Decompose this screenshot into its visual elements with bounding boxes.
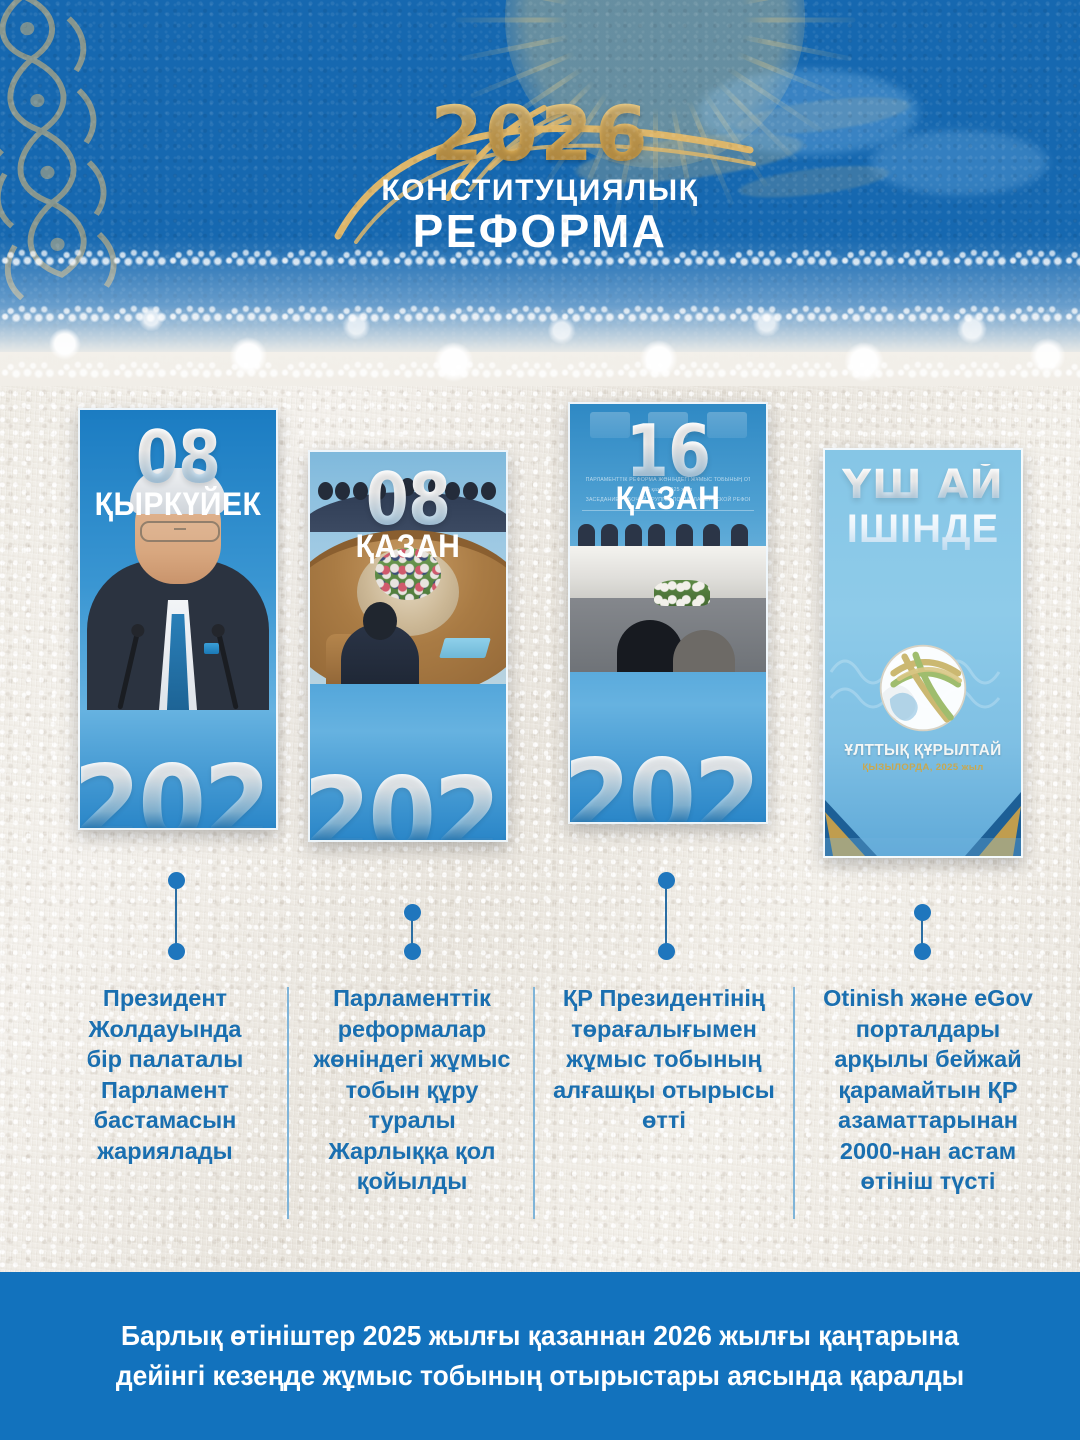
card-day: 08	[324, 466, 493, 532]
connector-dot-bottom	[658, 943, 675, 960]
connector-dot-top	[658, 872, 675, 889]
card-day: 16	[584, 418, 753, 484]
footer-text: Барлық өтініштер 2025 жылғы қазаннан 202…	[79, 1316, 1001, 1395]
caption-text: ҚР Президентінің төрағалығымен жұмыс тоб…	[540, 983, 788, 1136]
card-day: ҮШ АЙ	[825, 464, 1021, 507]
card-month: ҚАЗАН	[316, 528, 500, 565]
caption-text: Президент Жолдауында бір палаталы Парлам…	[52, 983, 278, 1166]
card-year: 2025	[568, 746, 768, 824]
card-year: 2025	[308, 764, 508, 842]
connector-dot-top	[914, 904, 931, 921]
caption-text: Otinish және eGov порталдары арқылы бейж…	[800, 983, 1056, 1197]
timeline-card: ҮШ АЙ ІШІНДЕ ҰЛТТЫҚ ҚҰРЫЛТАЙ ҚЫЗЫЛОРДА, …	[823, 448, 1023, 858]
timeline-card: 08 ҚЫРКҮЙЕК 2025	[78, 408, 278, 830]
card-month: ІШІНДЕ	[825, 507, 1021, 552]
card-date-header: 08 ҚАЗАН	[310, 466, 506, 565]
card-date-header: 08 ҚЫРКҮЙЕК	[80, 424, 276, 523]
connector-line	[411, 912, 413, 952]
connector-dot-top	[168, 872, 185, 889]
card-date-header: ҮШ АЙ ІШІНДЕ	[825, 464, 1021, 552]
connector-dot-top	[404, 904, 421, 921]
infographic-poster: 2026 КОНСТИТУЦИЯЛЫҚ РЕФОРМА 08 ҚЫРКҮЙЕК	[0, 0, 1080, 1440]
timeline-card: 08 ҚАЗАН 2025	[308, 450, 508, 842]
connector-dot-bottom	[168, 943, 185, 960]
caption-divider	[533, 987, 535, 1219]
card-year: 2025	[78, 752, 278, 830]
card-month: ҚАЗАН	[576, 480, 760, 517]
connector-line	[175, 880, 177, 952]
kurultai-emblem-icon	[877, 642, 969, 734]
card-date-header: 16 ҚАЗАН	[570, 418, 766, 517]
card-day: 08	[94, 424, 263, 490]
caption-divider	[793, 987, 795, 1219]
ribbon-decoration-icon	[825, 746, 1021, 856]
caption-divider	[287, 987, 289, 1219]
connector-line	[921, 912, 923, 952]
connector-line	[665, 880, 667, 952]
caption-text: Парламенттік реформалар жөніндегі жұмыс …	[292, 983, 532, 1197]
connector-dot-bottom	[404, 943, 421, 960]
timeline-cards: 08 ҚЫРКҮЙЕК 2025 08 ҚАЗАН 2025	[0, 0, 1080, 900]
connector-dot-bottom	[914, 943, 931, 960]
caption-row: Президент Жолдауында бір палаталы Парлам…	[0, 975, 1080, 1245]
card-month: ҚЫРКҮЙЕК	[86, 486, 270, 523]
timeline-card: ПАРЛАМЕНТТІК РЕФОРМА ЖӨНІНДЕГІ ЖҰМЫС ТОБ…	[568, 402, 768, 824]
footer-banner: Барлық өтініштер 2025 жылғы қазаннан 202…	[0, 1272, 1080, 1440]
